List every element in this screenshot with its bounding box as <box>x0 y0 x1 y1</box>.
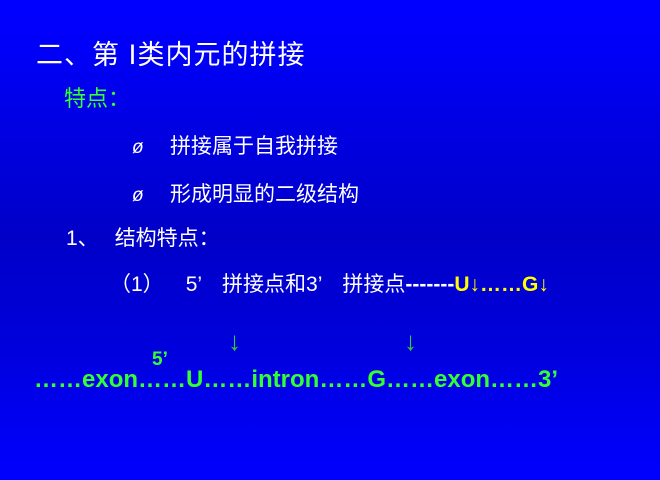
item-number: （1） <box>110 273 164 296</box>
down-arrow-icon: ↓ <box>470 273 481 296</box>
down-arrow-icon: ↓ <box>404 328 417 354</box>
list-item: ø拼接属于自我拼接 <box>132 136 338 157</box>
dash-connector: ------- <box>405 273 454 296</box>
slide-canvas: 二、第 Ⅰ类内元的拼接 特点： ø拼接属于自我拼接 ø形成明显的二级结构 1、结… <box>0 0 660 480</box>
bullet-text: 拼接属于自我拼接 <box>170 135 338 158</box>
page-title: 二、第 Ⅰ类内元的拼接 <box>36 42 305 69</box>
sequence-line: ……exon……U……intron……G……exon……3’ <box>34 368 558 392</box>
down-arrow-icon: ↓ <box>228 328 241 354</box>
feature-label: 特点： <box>64 88 130 110</box>
bullet-marker-icon: ø <box>132 138 170 157</box>
structure-heading: 1、结构特点： <box>66 228 220 249</box>
splice-site-segment-a: 拼接点和3’ <box>222 273 322 296</box>
bullet-marker-icon: ø <box>132 186 170 205</box>
ellipsis-right: … <box>501 273 522 296</box>
ellipsis-left: … <box>480 273 501 296</box>
splice-site-segment-b: 拼接点 <box>342 273 405 296</box>
down-arrow-icon: ↓ <box>538 273 549 296</box>
list-item: ø形成明显的二级结构 <box>132 184 359 205</box>
bullet-text: 形成明显的二级结构 <box>170 183 359 206</box>
structure-heading-number: 1、 <box>66 227 99 250</box>
splice-site-line: （1）5’拼接点和3’拼接点-------U↓……G↓ <box>110 274 549 295</box>
base-g: G <box>522 273 538 296</box>
five-prime-label: 5’ <box>186 273 202 296</box>
base-u: U <box>454 273 469 296</box>
structure-heading-text: 结构特点： <box>115 227 220 250</box>
